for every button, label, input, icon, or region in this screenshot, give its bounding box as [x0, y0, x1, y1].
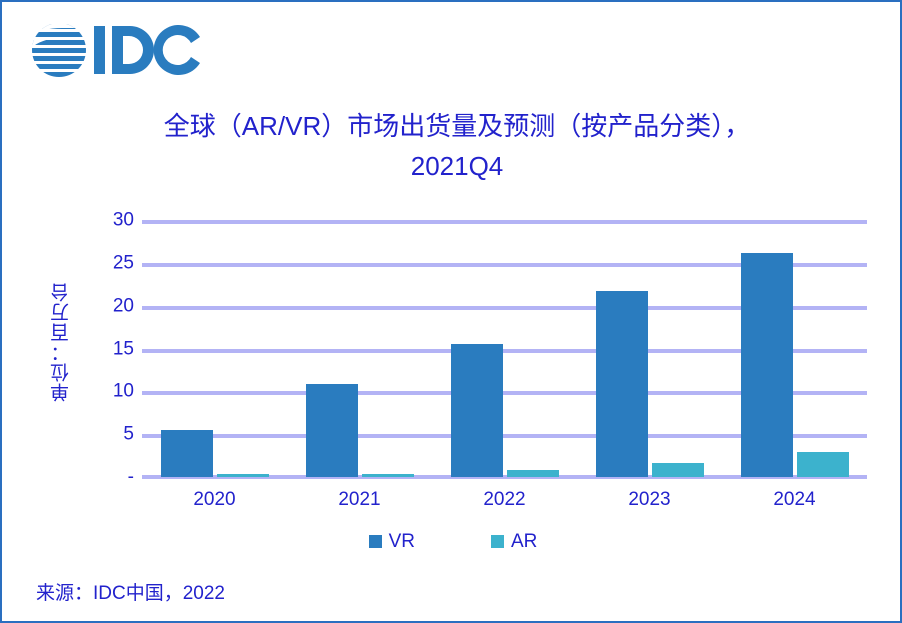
legend-label-ar: AR	[511, 532, 537, 551]
x-tick-2022: 2022	[445, 489, 565, 511]
x-tick-2023: 2023	[590, 489, 710, 511]
legend-swatch-ar	[491, 535, 504, 548]
bar-ar-2021	[362, 474, 414, 477]
legend-item-vr[interactable]: VR	[369, 532, 415, 551]
bar-ar-2023	[652, 463, 704, 477]
gridline-30	[142, 220, 867, 224]
source-note: 来源：IDC中国，2022	[36, 578, 225, 605]
bar-ar-2020	[217, 474, 269, 477]
legend-label-vr: VR	[389, 532, 415, 551]
chart-legend: VR AR	[2, 532, 902, 551]
bar-vr-2020	[161, 430, 213, 477]
bar-vr-2023	[596, 291, 648, 477]
x-tick-2020: 2020	[155, 489, 275, 511]
x-tick-2024: 2024	[735, 489, 855, 511]
bar-vr-2022	[451, 344, 503, 477]
bar-vr-2024	[741, 253, 793, 477]
bar-ar-2024	[797, 452, 849, 478]
bar-ar-2022	[507, 470, 559, 477]
chart-page: 全球（AR/VR）市场出货量及预测（按产品分类）， 2021Q4 单位：百万台 …	[0, 0, 902, 623]
plot-wrapper: 20202021202220232024	[2, 2, 902, 623]
bar-vr-2021	[306, 384, 358, 477]
legend-swatch-vr	[369, 535, 382, 548]
x-tick-2021: 2021	[300, 489, 420, 511]
plot-area	[142, 220, 867, 477]
legend-item-ar[interactable]: AR	[491, 532, 537, 551]
